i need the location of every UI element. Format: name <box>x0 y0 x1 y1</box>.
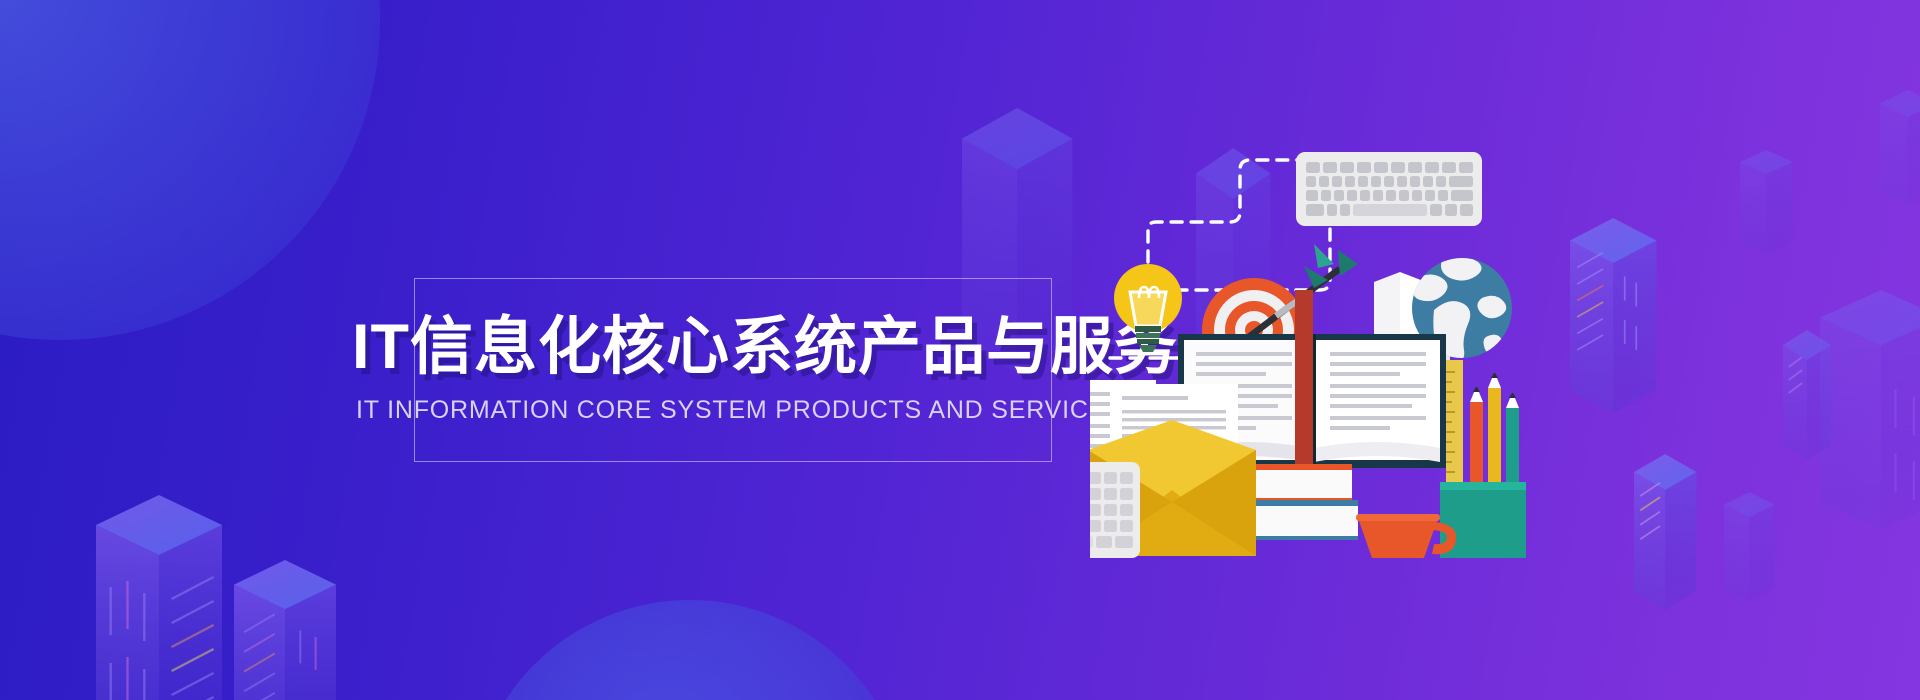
building-right-small <box>1634 454 1696 610</box>
building-right-tall <box>1570 218 1656 413</box>
keyboard-top-icon <box>1296 152 1482 226</box>
page-title: IT信息化核心系统产品与服务 <box>352 316 1112 379</box>
building-far-right-wide <box>1820 290 1920 529</box>
hero-banner: IT信息化核心系统产品与服务 IT INFORMATION CORE SYSTE… <box>0 0 1920 700</box>
building-bottom-left-short <box>234 560 336 700</box>
lightbulb-icon <box>1114 264 1182 352</box>
pencil-icon-3 <box>1506 392 1519 494</box>
ruler-icon <box>1446 360 1463 492</box>
it-office-illustration <box>1090 130 1540 570</box>
pencil-icon <box>1470 386 1483 494</box>
building-far-right-short <box>1740 150 1793 254</box>
pencil-icon-2 <box>1488 372 1501 494</box>
keyboard-bottom-icon <box>1090 462 1140 558</box>
bookmark-ribbon-icon <box>1295 290 1313 488</box>
building-right-thin <box>1724 492 1774 601</box>
building-right-edge <box>1880 90 1920 207</box>
building-bottom-left-tall <box>96 495 222 700</box>
page-subtitle: IT INFORMATION CORE SYSTEM PRODUCTS AND … <box>356 396 1056 425</box>
